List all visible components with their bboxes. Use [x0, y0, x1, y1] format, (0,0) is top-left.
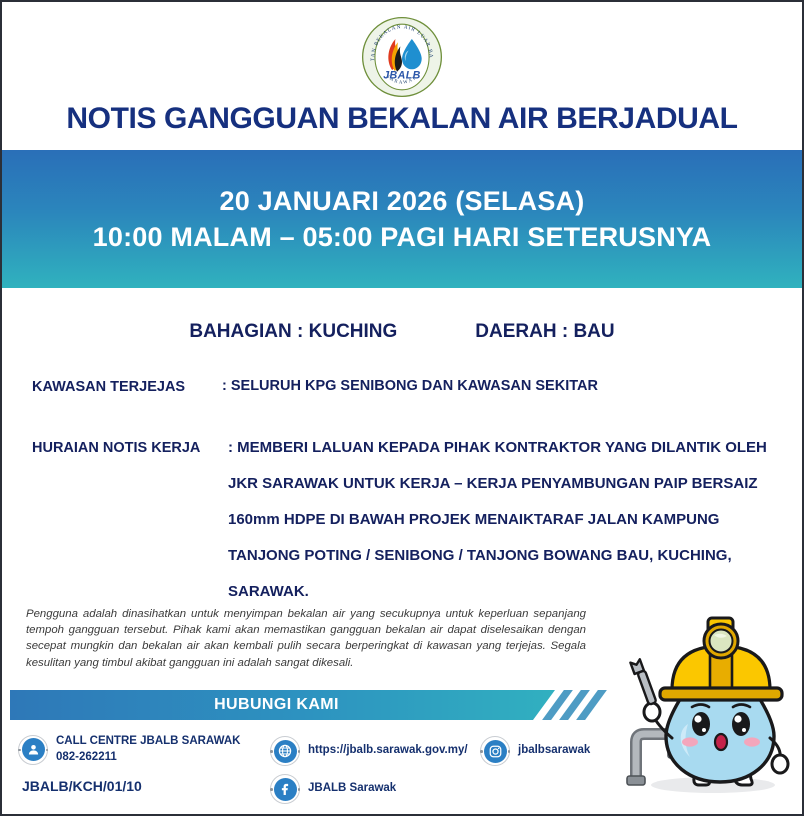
work-notice-value: : MEMBERI LALUAN KEPADA PIHAK KONTRAKTOR…: [228, 439, 802, 600]
instagram-handle: jbalbsarawak: [518, 743, 590, 759]
date-banner: 20 JANUARI 2026 (SELASA) 10:00 MALAM – 0…: [2, 150, 802, 288]
work-notice-line: TANJONG POTING / SENIBONG / TANJONG BOWA…: [228, 547, 802, 564]
jbalb-logo: JABATAN BEKALAN AIR LUAR BANDAR SARAWAK …: [361, 16, 443, 98]
reference-code: JBALB/KCH/01/10: [22, 778, 142, 794]
work-notice-label: HURAIAN NOTIS KERJA: [32, 439, 228, 600]
poster-header: JABATAN BEKALAN AIR LUAR BANDAR SARAWAK …: [2, 2, 802, 150]
banner-time: 10:00 MALAM – 05:00 PAGI HARI SETERUSNYA: [93, 222, 712, 253]
region-row: BAHAGIAN : KUCHING DAERAH : BAU: [2, 288, 802, 343]
contact-bar-wrapper: HUBUNGI KAMI: [10, 690, 630, 720]
affected-area-row: KAWASAN TERJEJAS : SELURUH KPG SENIBONG …: [2, 378, 802, 395]
notice-poster: JABATAN BEKALAN AIR LUAR BANDAR SARAWAK …: [0, 0, 804, 816]
call-centre-line1: CALL CENTRE JBALB SARAWAK: [56, 735, 240, 747]
facebook-icon: [270, 774, 300, 804]
disclaimer-text: Pengguna adalah dinasihatkan untuk menyi…: [26, 606, 586, 671]
hard-hat-icon: [660, 618, 782, 700]
banner-date: 20 JANUARI 2026 (SELASA): [220, 186, 585, 217]
work-notice-line: : MEMBERI LALUAN KEPADA PIHAK KONTRAKTOR…: [228, 439, 802, 456]
water-droplet-mascot-icon: [610, 596, 796, 806]
district-label: DAERAH : BAU: [475, 321, 614, 343]
contacts-section: CALL CENTRE JBALB SARAWAK 082-262211 JBA…: [14, 730, 630, 810]
contact-website[interactable]: https://jbalb.sarawak.gov.my/: [270, 736, 468, 766]
contact-facebook[interactable]: JBALB Sarawak: [270, 774, 396, 804]
person-icon: [18, 735, 48, 765]
division-label: BAHAGIAN : KUCHING: [189, 321, 397, 343]
contact-bar-title: HUBUNGI KAMI: [214, 696, 351, 714]
contact-instagram[interactable]: jbalbsarawak: [480, 736, 590, 766]
contact-bar: HUBUNGI KAMI: [10, 690, 555, 720]
svg-text:JBALB: JBALB: [383, 69, 421, 81]
work-notice-row: HURAIAN NOTIS KERJA : MEMBERI LALUAN KEP…: [2, 439, 802, 600]
contact-call-centre[interactable]: CALL CENTRE JBALB SARAWAK 082-262211: [18, 734, 240, 765]
call-centre-text: CALL CENTRE JBALB SARAWAK 082-262211: [56, 734, 240, 765]
affected-area-label: KAWASAN TERJEJAS: [32, 378, 222, 395]
facebook-handle: JBALB Sarawak: [308, 781, 396, 797]
work-notice-line: 160mm HDPE DI BAWAH PROJEK MENAIKTARAF J…: [228, 511, 802, 528]
globe-icon: [270, 736, 300, 766]
affected-area-value: : SELURUH KPG SENIBONG DAN KAWASAN SEKIT…: [222, 378, 802, 395]
call-centre-line2: 082-262211: [56, 751, 117, 763]
instagram-icon: [480, 736, 510, 766]
page-title: NOTIS GANGGUAN BEKALAN AIR BERJADUAL: [2, 102, 802, 136]
poster-body: BAHAGIAN : KUCHING DAERAH : BAU KAWASAN …: [2, 288, 802, 600]
website-url: https://jbalb.sarawak.gov.my/: [308, 743, 468, 759]
work-notice-line: JKR SARAWAK UNTUK KERJA – KERJA PENYAMBU…: [228, 475, 802, 492]
